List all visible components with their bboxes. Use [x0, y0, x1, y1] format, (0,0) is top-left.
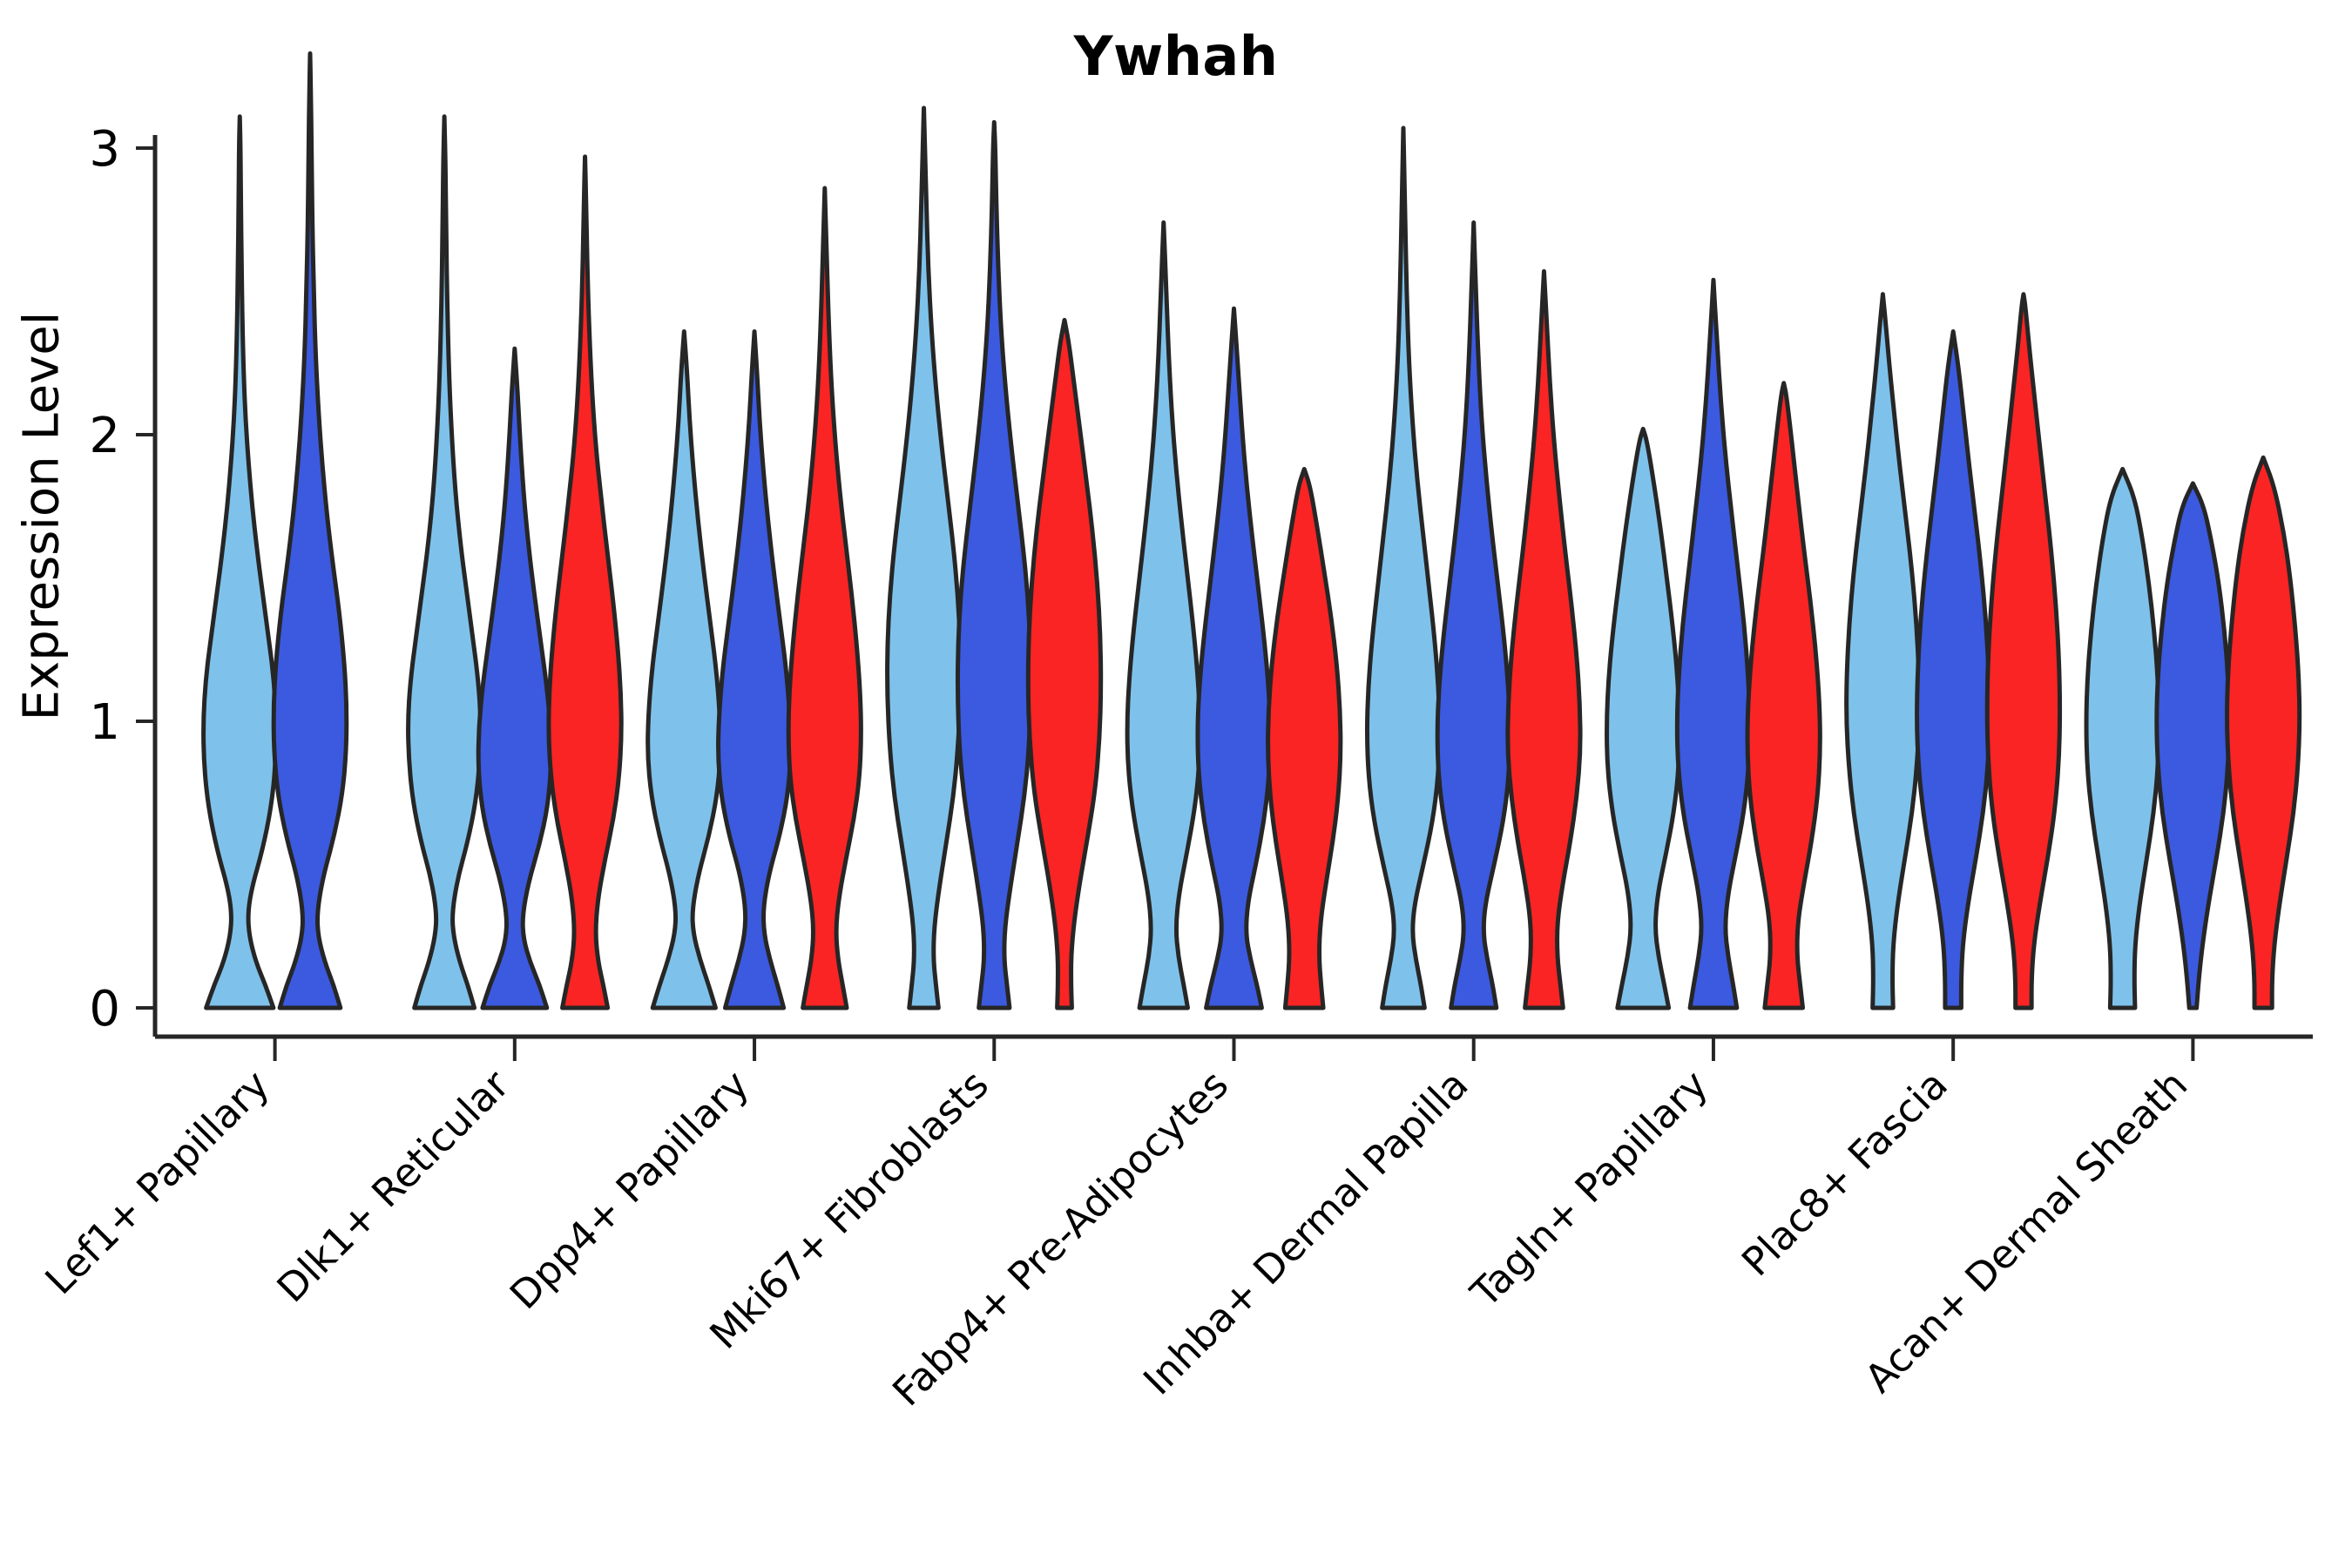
violin-group-3	[1987, 294, 2059, 1008]
violin-group-2	[2157, 483, 2229, 1008]
violin-group-1	[2086, 469, 2159, 1008]
x-axis-tick-labels: Lef1+ PapillaryDlk1+ ReticularDpp4+ Papi…	[37, 1061, 2197, 1415]
x-tick-label: Dpp4+ Papillary	[501, 1061, 758, 1318]
violin-group-2	[274, 53, 347, 1008]
violin-group-2	[1198, 308, 1270, 1008]
y-tick-label: 0	[89, 981, 120, 1037]
violin-plot-figure: Ywhah Expression Level 0123 Lef1+ Papill…	[0, 0, 2352, 1568]
violin-group-2	[1677, 280, 1749, 1008]
x-axis-ticks	[275, 1037, 2193, 1061]
x-tick-label: Lef1+ Papillary	[37, 1061, 279, 1303]
y-tick-label: 3	[89, 121, 120, 178]
violin-group-3	[788, 188, 861, 1008]
violin-group-3	[1508, 271, 1580, 1008]
violin-group-2	[719, 332, 791, 1008]
violin-group-2	[1437, 223, 1510, 1008]
violin-group-1	[888, 108, 961, 1008]
violin-group-1	[1607, 429, 1680, 1008]
violin-plot-canvas: 0123 Lef1+ PapillaryDlk1+ ReticularDpp4+…	[0, 0, 2352, 1568]
violin-shapes	[204, 53, 2300, 1008]
x-tick-label: Plac8+ Fascia	[1733, 1061, 1957, 1285]
violin-group-1	[409, 117, 481, 1008]
x-tick-label: Dlk1+ Reticular	[268, 1061, 518, 1311]
y-axis-ticks: 0123	[89, 121, 155, 1037]
violin-group-1	[1367, 128, 1439, 1008]
y-tick-label: 2	[89, 408, 120, 464]
violin-group-3	[1268, 469, 1341, 1008]
violin-group-3	[549, 157, 621, 1008]
violin-group-1	[204, 117, 276, 1008]
violin-group-1	[1847, 294, 1920, 1008]
violin-group-3	[1028, 320, 1100, 1008]
violin-group-1	[1127, 223, 1200, 1008]
violin-group-2	[478, 348, 551, 1008]
violin-group-1	[648, 332, 720, 1008]
violin-group-3	[1747, 383, 1820, 1008]
x-tick-label: Tagln+ Papillary	[1461, 1061, 1716, 1316]
violin-group-2	[957, 122, 1031, 1008]
y-tick-label: 1	[89, 694, 120, 751]
violin-group-3	[2227, 457, 2300, 1008]
violin-group-2	[1917, 332, 1990, 1008]
